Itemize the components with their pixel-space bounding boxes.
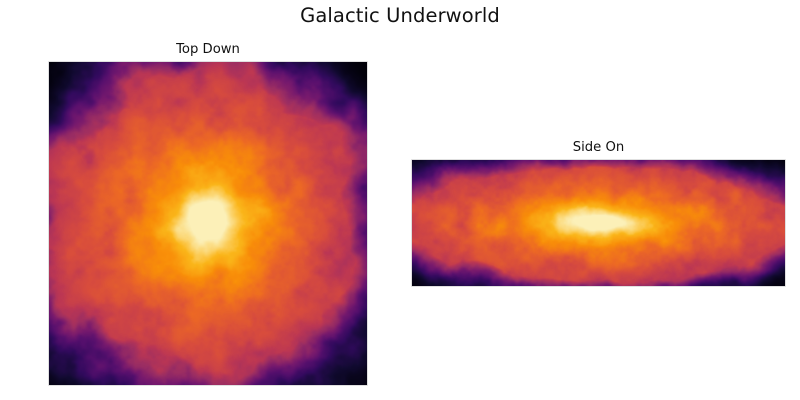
figure-canvas: Galactic Underworld Top Down Side On [0,0,800,400]
galaxy-density-map-side-on [412,160,785,286]
plot-panel-top-down [49,62,367,385]
figure-title: Galactic Underworld [0,4,800,27]
panel-title-side-on: Side On [412,140,785,155]
panel-title-top-down: Top Down [49,42,367,57]
galaxy-density-map-top-down [49,62,367,385]
plot-panel-side-on [412,160,785,286]
